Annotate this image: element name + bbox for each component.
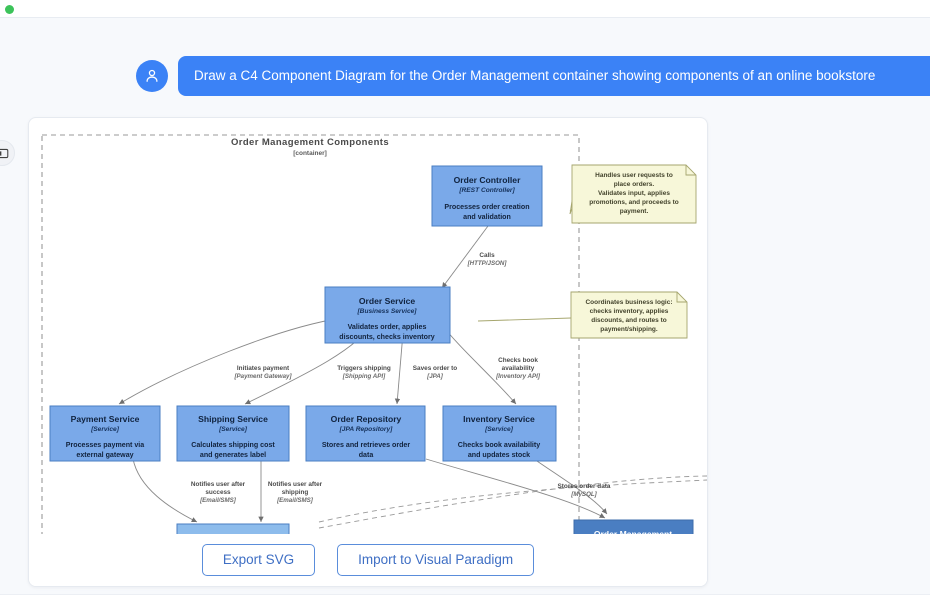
export-svg-button[interactable]: Export SVG <box>202 544 315 576</box>
edge-tech-store-data: [MySQL] <box>570 491 597 498</box>
component-shipping-service[interactable]: Shipping Service [Service] Calculates sh… <box>177 406 289 461</box>
edge-label-notify-success-1: Notifies user after <box>191 481 246 488</box>
component-order-service[interactable]: Order Service [Business Service] Validat… <box>325 287 450 343</box>
note-line-1: Coordinates business logic: <box>585 299 672 306</box>
edge-tech-payment: [Payment Gateway] <box>233 373 292 380</box>
component-name: Payment Service <box>71 414 140 424</box>
note-line-2: place orders. <box>614 181 655 188</box>
page-content: Draw a C4 Component Diagram for the Orde… <box>0 19 930 594</box>
note-line-3: discounts, and routes to <box>591 317 667 324</box>
avatar <box>136 60 168 92</box>
edge-tech-shipping: [Shipping API] <box>342 373 386 380</box>
bottom-strip <box>0 594 930 613</box>
edge-label-inventory-2: availability <box>502 365 535 372</box>
component-desc-1: Stores and retrieves order <box>322 441 411 449</box>
component-desc-2: and generates label <box>200 451 266 459</box>
component-type: [Business Service] <box>356 308 417 315</box>
component-name: Inventory Service <box>463 414 535 424</box>
component-name: Order Service <box>359 296 416 306</box>
note-line-4: payment/shipping. <box>600 326 658 333</box>
component-desc-2: discounts, checks inventory <box>339 333 434 341</box>
component-desc-1: Processes order creation <box>444 203 529 211</box>
note-order-service: Coordinates business logic: checks inven… <box>571 292 687 338</box>
note-order-controller: Handles user requests to place orders. V… <box>572 165 696 223</box>
app-window: Draw a C4 Component Diagram for the Orde… <box>0 0 930 613</box>
edge-tech-repository: [JPA] <box>426 373 444 380</box>
component-type: [Service] <box>484 426 514 433</box>
import-to-visual-paradigm-button[interactable]: Import to Visual Paradigm <box>337 544 534 576</box>
edge-label-calls: Calls <box>479 252 495 259</box>
component-type: [Service] <box>90 426 120 433</box>
diagram-canvas[interactable]: Order Management Components [container] <box>29 118 707 536</box>
component-type: [REST Controller] <box>458 187 515 194</box>
component-desc-1: Checks book availability <box>458 441 540 449</box>
component-desc-1: Processes payment via <box>66 441 145 449</box>
note-line-3: Validates input, applies <box>598 190 670 197</box>
edge-tech-inventory: [Inventory API] <box>495 373 541 380</box>
component-type: [Service] <box>218 426 248 433</box>
component-desc-2: data <box>359 451 374 459</box>
diagram-actions: Export SVG Import to Visual Paradigm <box>29 534 707 586</box>
edge-label-notify-ship-2: shipping <box>282 489 309 496</box>
status-dot <box>5 5 14 14</box>
component-order-repository[interactable]: Order Repository [JPA Repository] Stores… <box>306 406 425 461</box>
component-type: [JPA Repository] <box>339 426 394 433</box>
component-name: Shipping Service <box>198 414 268 424</box>
edge-label-store-data: Stores order data <box>558 483 611 490</box>
edge-label-payment: Initiates payment <box>237 365 290 372</box>
edge-tech-notify-success: [Email/SMS] <box>199 497 237 504</box>
edge-label-shipping: Triggers shipping <box>337 365 391 372</box>
boundary-title: Order Management Components <box>231 137 389 148</box>
component-name: Order Controller <box>454 175 522 185</box>
edge-tech-notify-ship: [Email/SMS] <box>276 497 314 504</box>
boundary-subtitle: [container] <box>293 150 327 157</box>
note-line-5: payment. <box>620 208 649 215</box>
note-line-4: promotions, and proceeds to <box>589 199 679 206</box>
user-message-bubble: Draw a C4 Component Diagram for the Orde… <box>178 56 930 96</box>
edge-label-repository: Saves order to <box>413 365 457 372</box>
sidebar-toggle-button[interactable] <box>0 140 15 166</box>
component-desc-1: Validates order, applies <box>348 323 427 331</box>
edge-tech-calls: [HTTP/JSON] <box>467 260 508 267</box>
c4-component-diagram: Order Management Components [container] <box>29 118 707 536</box>
component-payment-service[interactable]: Payment Service [Service] Processes paym… <box>50 406 160 461</box>
edge-label-notify-ship-1: Notifies user after <box>268 481 323 488</box>
component-desc-2: external gateway <box>76 451 133 459</box>
edge-label-notify-success-2: success <box>205 489 231 496</box>
user-icon <box>143 67 161 85</box>
diagram-card: Order Management Components [container] <box>28 117 708 587</box>
window-topbar <box>0 0 930 18</box>
component-desc-2: and validation <box>463 213 511 221</box>
component-inventory-service[interactable]: Inventory Service [Service] Checks book … <box>443 406 556 461</box>
component-order-controller[interactable]: Order Controller [REST Controller] Proce… <box>432 166 542 226</box>
note-line-1: Handles user requests to <box>595 172 673 179</box>
component-desc-1: Calculates shipping cost <box>191 441 275 449</box>
component-desc-2: and updates stock <box>468 451 530 459</box>
component-name: Order Repository <box>331 414 402 424</box>
panel-toggle-icon <box>0 147 9 160</box>
note-line-2: checks inventory, applies <box>590 308 669 315</box>
edge-label-inventory-1: Checks book <box>498 357 538 364</box>
user-message-row: Draw a C4 Component Diagram for the Orde… <box>136 56 930 96</box>
